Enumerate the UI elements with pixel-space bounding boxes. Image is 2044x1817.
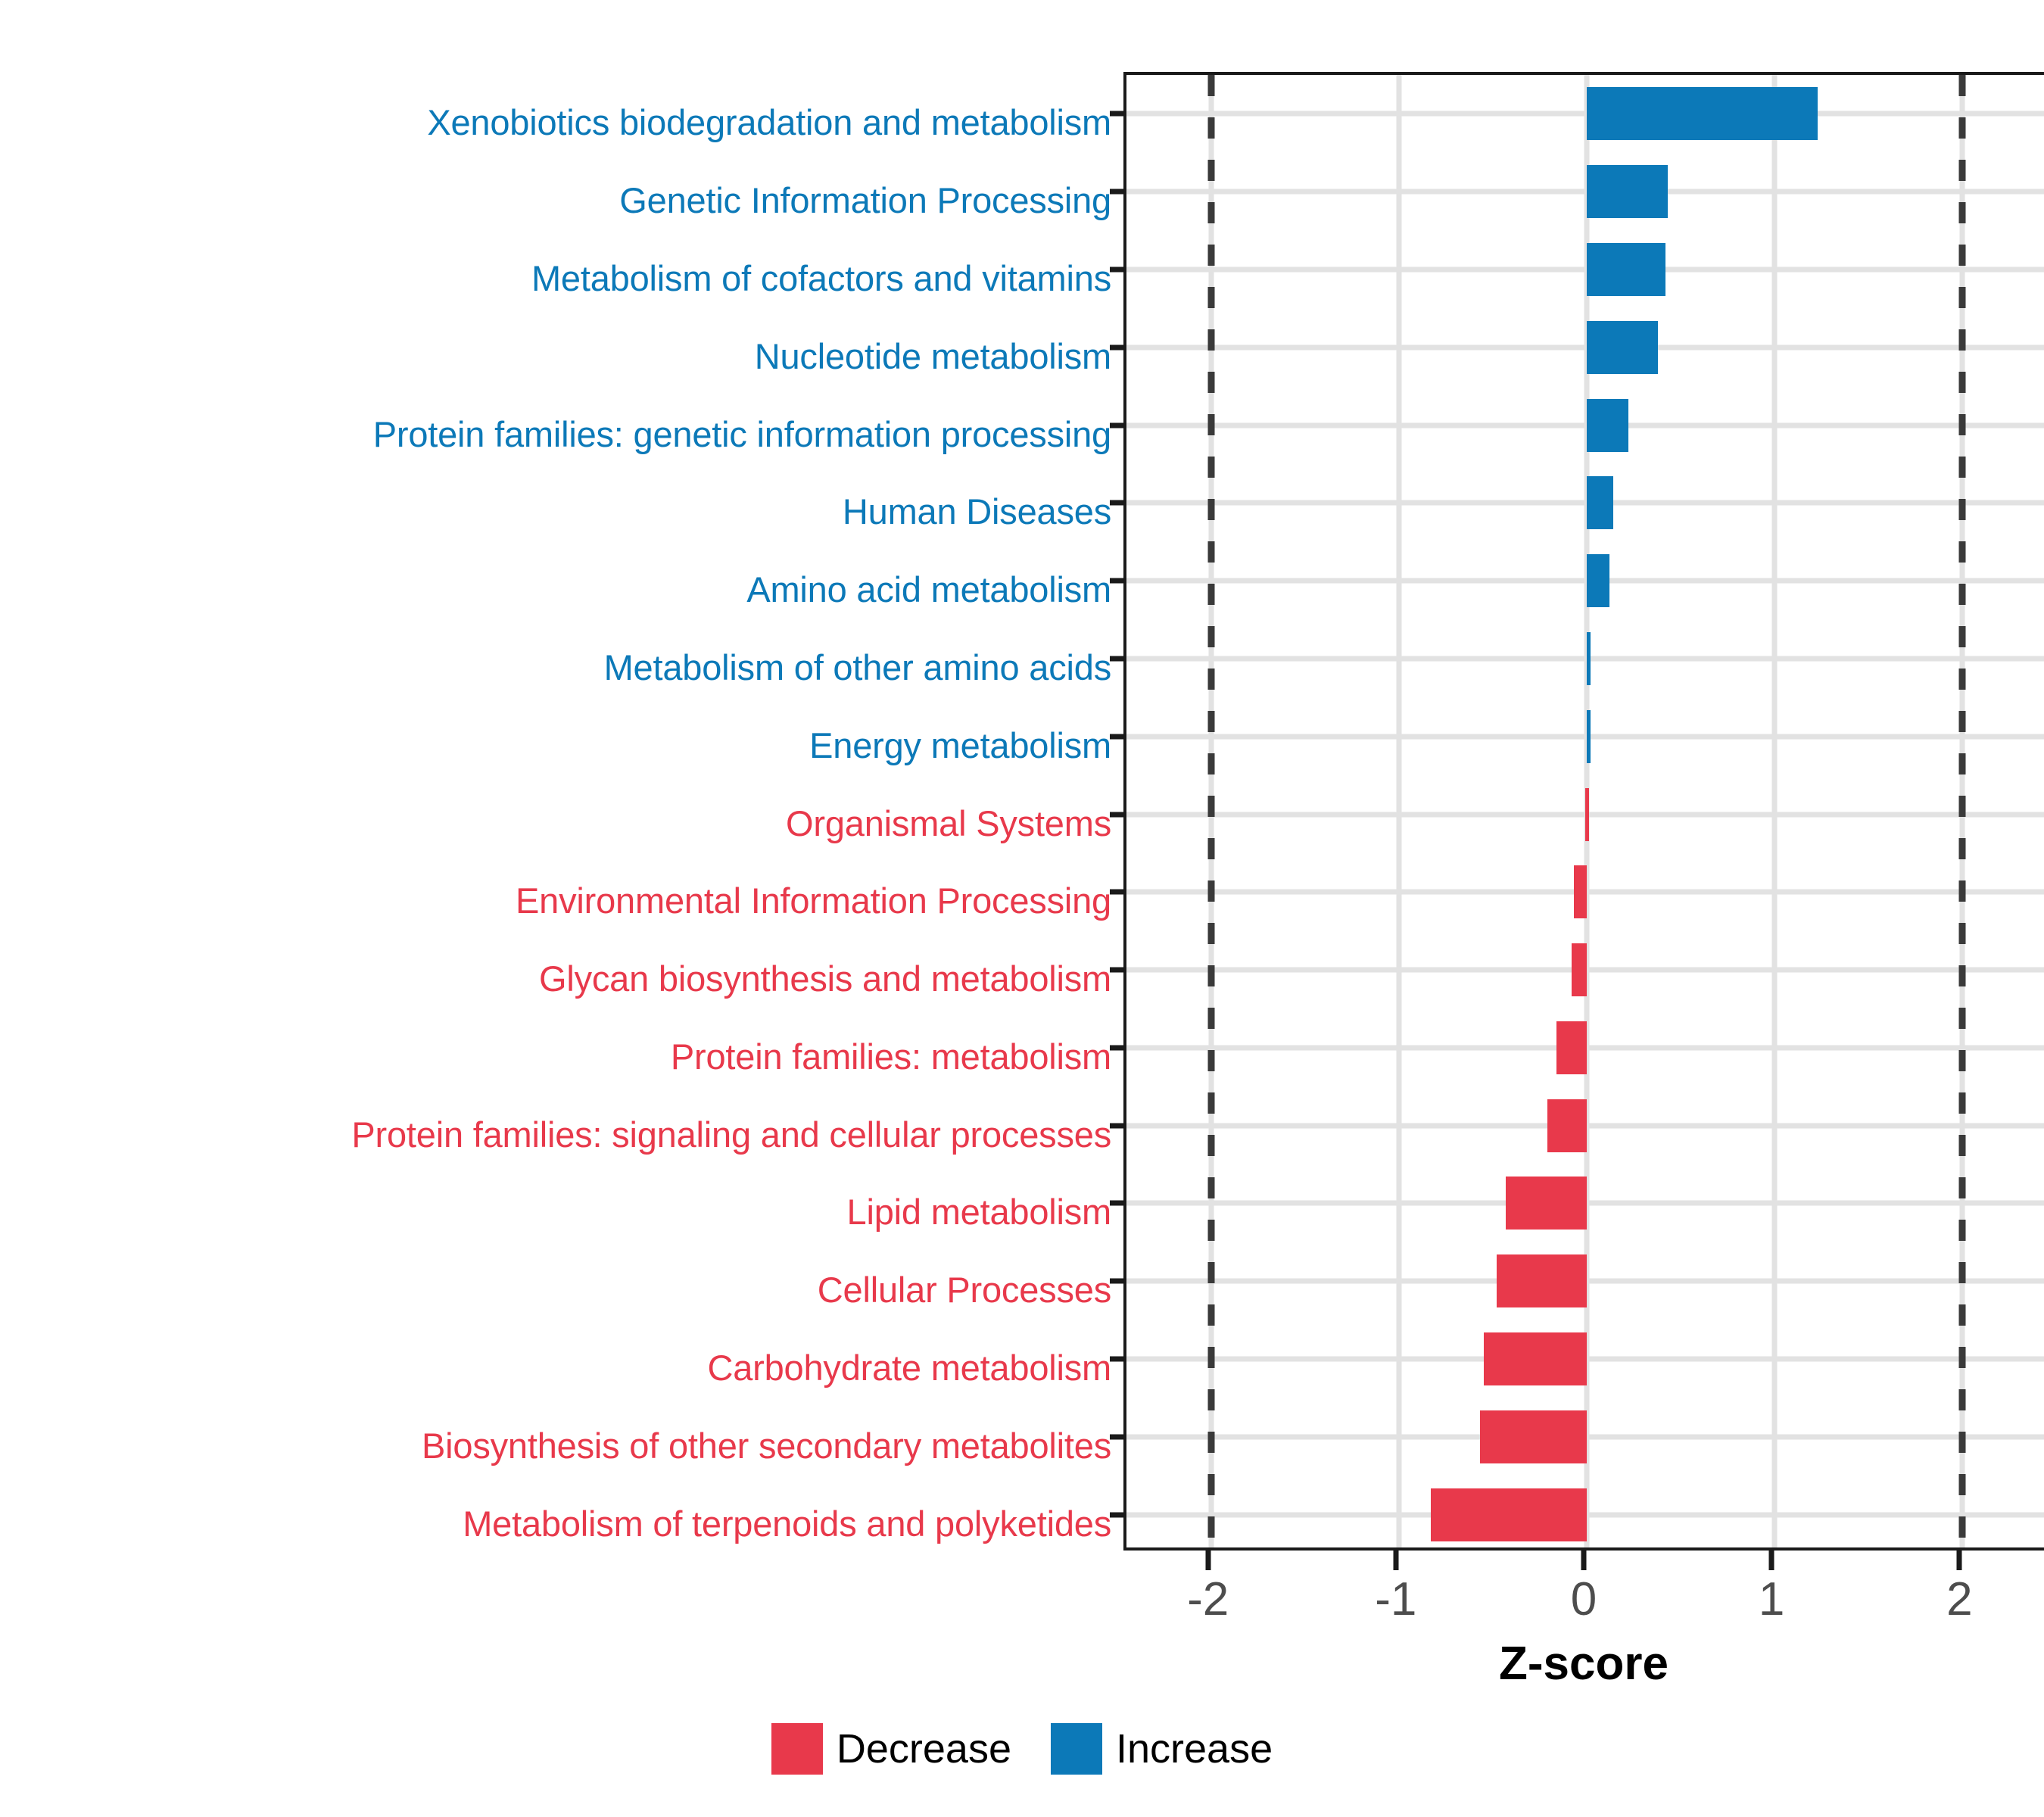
legend-item-increase: Increase [1051, 1723, 1273, 1775]
bar[interactable] [1484, 1332, 1587, 1385]
bar[interactable] [1587, 710, 1591, 763]
horizontal-gridline [1126, 578, 2044, 584]
y-axis-tick [1110, 266, 1126, 272]
legend-swatch-increase [1051, 1723, 1102, 1775]
horizontal-gridline [1126, 266, 2044, 272]
bar[interactable] [1431, 1488, 1587, 1541]
y-axis-tick [1110, 189, 1126, 195]
threshold-dashed-line [1959, 75, 1966, 1547]
x-axis-tick-label: -2 [1133, 1573, 1284, 1626]
horizontal-gridline [1126, 189, 2044, 195]
y-axis-tick [1110, 1357, 1126, 1362]
bar[interactable] [1587, 399, 1628, 452]
x-axis-title: Z-score [1123, 1637, 2044, 1691]
y-axis-tick [1110, 1434, 1126, 1439]
x-axis-tick [1957, 1551, 1962, 1570]
bar[interactable] [1587, 476, 1613, 529]
y-axis-tick [1110, 578, 1126, 584]
y-axis-tick [1110, 500, 1126, 506]
horizontal-gridline [1126, 656, 2044, 661]
horizontal-gridline [1126, 734, 2044, 739]
legend-label-increase: Increase [1116, 1723, 1273, 1775]
legend-label-decrease: Decrease [837, 1723, 1011, 1775]
threshold-dashed-line [1207, 75, 1214, 1547]
y-axis-category-labels: Xenobiotics biodegradation and metabolis… [0, 72, 1111, 1551]
y-axis-tick [1110, 111, 1126, 117]
y-axis-tick [1110, 422, 1126, 428]
horizontal-gridline [1126, 111, 2044, 117]
bar[interactable] [1556, 1021, 1587, 1074]
horizontal-gridline [1126, 422, 2044, 428]
x-axis-tick [1581, 1551, 1587, 1570]
bar[interactable] [1587, 243, 1665, 296]
chart-legend: Decrease Increase [0, 1723, 2044, 1775]
bar[interactable] [1587, 321, 1658, 374]
x-axis-tick [1769, 1551, 1774, 1570]
legend-item-decrease: Decrease [771, 1723, 1011, 1775]
plot-inner [1126, 75, 2044, 1547]
y-axis-tick [1110, 890, 1126, 895]
horizontal-gridline [1126, 344, 2044, 350]
x-axis-tick [1205, 1551, 1211, 1570]
bar[interactable] [1547, 1099, 1587, 1152]
bar[interactable] [1497, 1254, 1587, 1307]
y-axis-tick [1110, 1512, 1126, 1517]
x-axis-tick-label: 1 [1696, 1573, 1847, 1626]
bar[interactable] [1572, 943, 1587, 996]
x-axis-tick-labels: -2-1012 [0, 1573, 2044, 1634]
y-axis-tick [1110, 1201, 1126, 1206]
x-axis-tick-label: 0 [1508, 1573, 1659, 1626]
bar[interactable] [1587, 87, 1818, 140]
y-axis-tick [1110, 344, 1126, 350]
legend-swatch-decrease [771, 1723, 823, 1775]
x-axis-tick-label: 2 [1884, 1573, 2035, 1626]
bar[interactable] [1506, 1177, 1587, 1230]
bar[interactable] [1480, 1410, 1587, 1463]
y-axis-tick [1110, 734, 1126, 739]
x-axis-tick [1393, 1551, 1398, 1570]
bar[interactable] [1587, 554, 1609, 607]
x-axis-tick-label: -1 [1320, 1573, 1472, 1626]
plot-panel [1123, 72, 2044, 1551]
y-axis-tick [1110, 1045, 1126, 1050]
kegg-zscore-bar-chart: Xenobiotics biodegradation and metabolis… [0, 0, 2044, 1817]
bar[interactable] [1585, 788, 1589, 841]
y-axis-tick [1110, 968, 1126, 973]
y-axis-tick [1110, 1279, 1126, 1284]
horizontal-gridline [1126, 500, 2044, 506]
y-axis-tick [1110, 656, 1126, 661]
bar[interactable] [1574, 865, 1587, 918]
y-axis-tick [1110, 812, 1126, 817]
y-axis-tick [1110, 1123, 1126, 1128]
bar[interactable] [1587, 632, 1591, 685]
bar[interactable] [1587, 165, 1668, 218]
x-axis-ticks [1123, 1551, 2044, 1570]
